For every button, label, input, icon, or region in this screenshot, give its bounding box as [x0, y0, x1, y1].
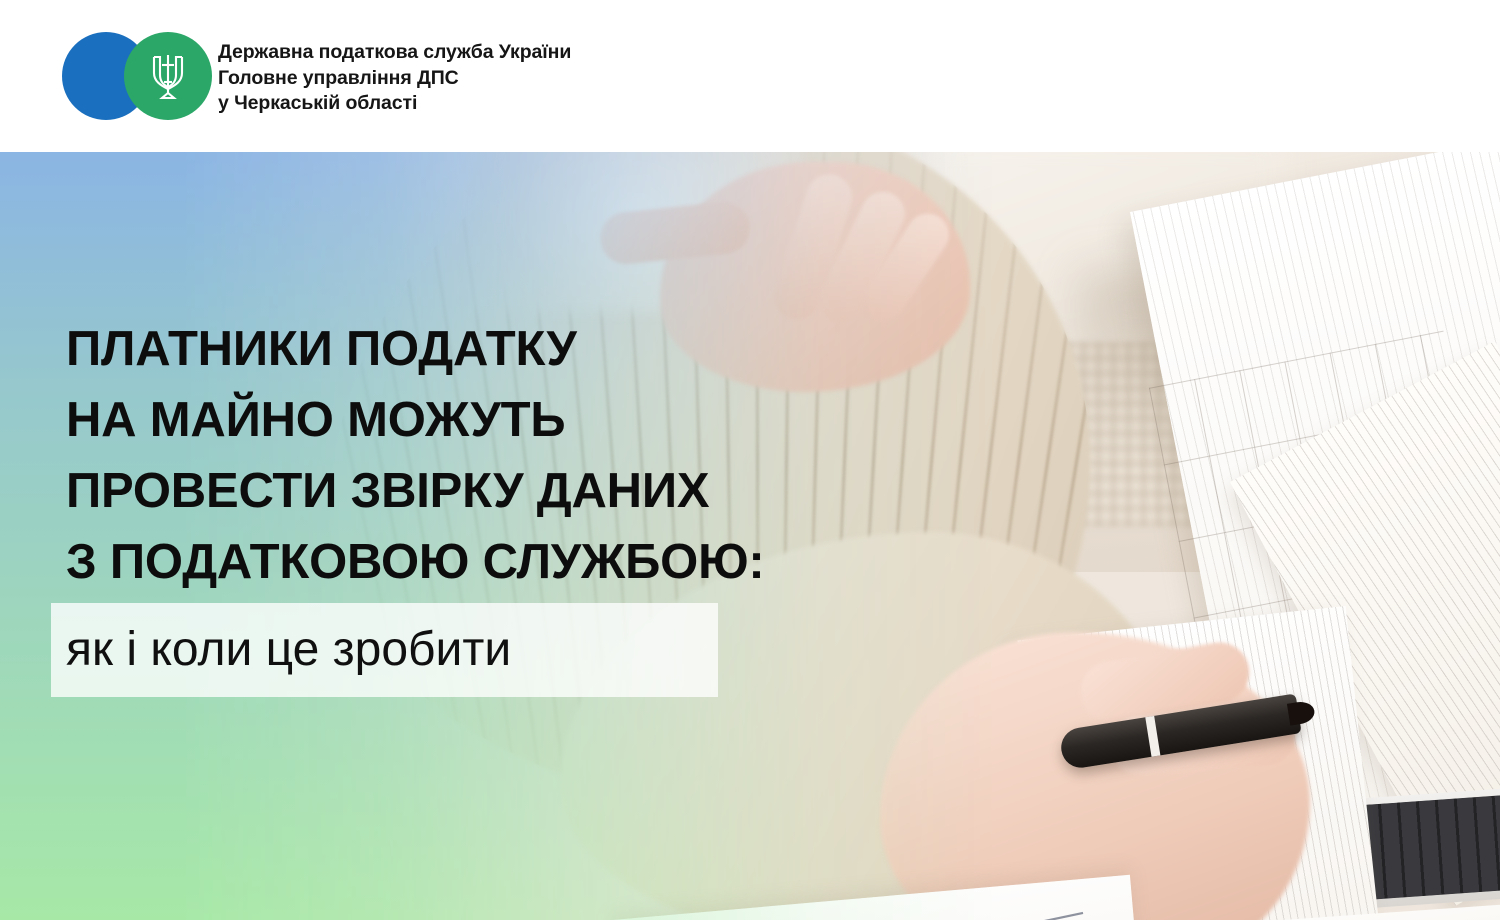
agency-name-line-2: Головне управління ДПС: [218, 66, 1018, 92]
headline-line-3: ПРОВЕСТИ ЗВІРКУ ДАНИХ: [66, 456, 1066, 527]
header-bar: Державна податкова служба України Головн…: [0, 0, 1500, 152]
headline: ПЛАТНИКИ ПОДАТКУ НА МАЙНО МОЖУТЬ ПРОВЕСТ…: [66, 314, 1066, 598]
ukraine-trident-icon: [124, 32, 212, 120]
banner-copy: ПЛАТНИКИ ПОДАТКУ НА МАЙНО МОЖУТЬ ПРОВЕСТ…: [0, 152, 1500, 920]
poster-root: Державна податкова служба України Головн…: [0, 0, 1500, 920]
agency-logo: [62, 32, 210, 120]
headline-line-1: ПЛАТНИКИ ПОДАТКУ: [66, 314, 1066, 385]
agency-name-line-3: у Черкаській області: [218, 91, 1018, 117]
headline-line-2: НА МАЙНО МОЖУТЬ: [66, 385, 1066, 456]
agency-name-line-1: Державна податкова служба України: [218, 40, 1018, 66]
agency-name-block: Державна податкова служба України Головн…: [218, 40, 1018, 117]
headline-line-4: З ПОДАТКОВОЮ СЛУЖБОЮ:: [66, 527, 1066, 598]
subtitle: як і коли це зробити: [66, 614, 766, 686]
